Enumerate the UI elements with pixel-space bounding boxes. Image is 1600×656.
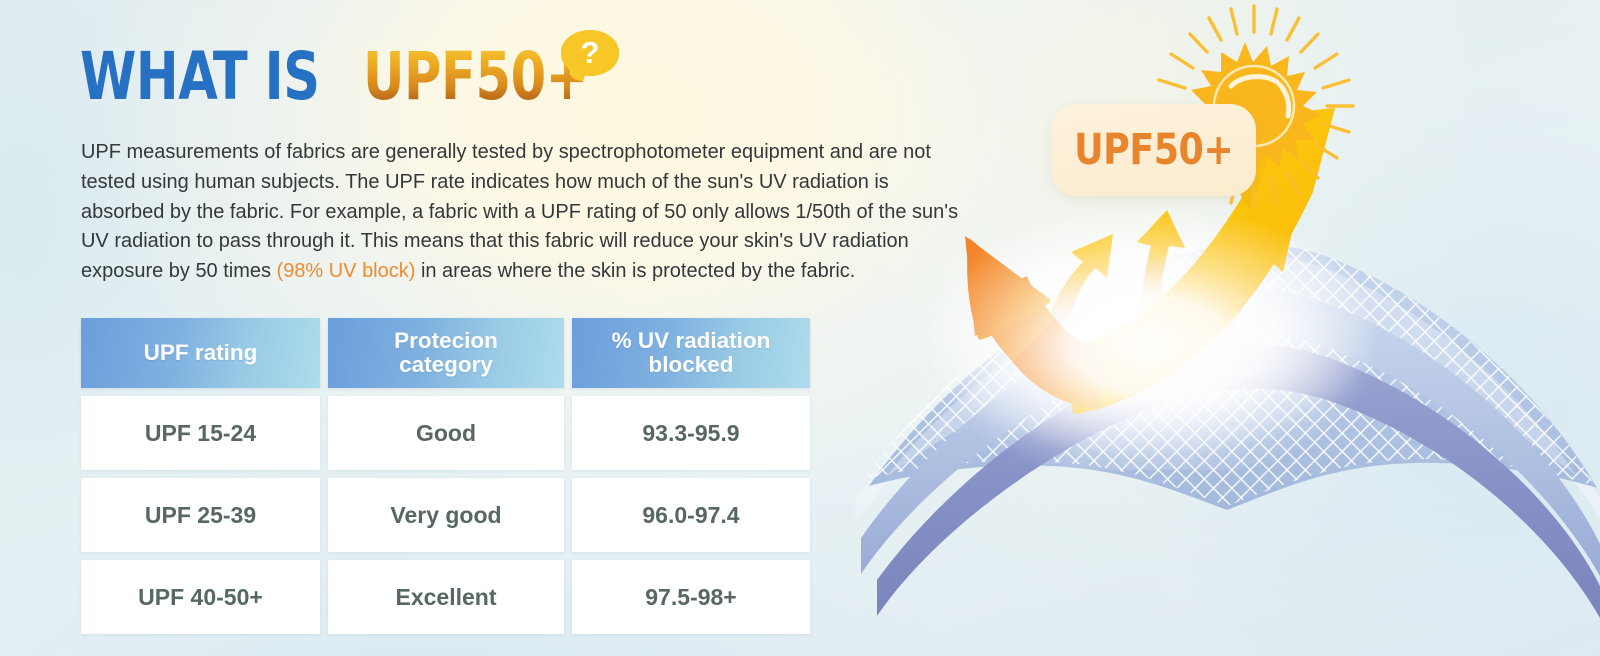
uv-protection-illustration: UPF50+ bbox=[855, 0, 1600, 656]
upf50-infographic-banner: WHAT IS UPF50+ ? UPF measurements of fab… bbox=[0, 0, 1600, 656]
cell-protection-category: Excellent bbox=[328, 560, 564, 634]
table-header-upf-rating: UPF rating bbox=[81, 318, 320, 388]
page-title-blue: WHAT IS bbox=[80, 40, 320, 114]
cell-upf-rating: UPF 40-50+ bbox=[81, 560, 320, 634]
cell-upf-rating: UPF 15-24 bbox=[81, 396, 320, 470]
cell-protection-category: Very good bbox=[328, 478, 564, 552]
header-line: % UV radiation bbox=[612, 329, 771, 353]
header-line: blocked bbox=[612, 353, 771, 377]
table-row: UPF 40-50+ Excellent 97.5-98+ bbox=[81, 560, 818, 634]
question-bubble-icon: ? bbox=[561, 30, 619, 80]
cell-uv-blocked: 97.5-98+ bbox=[572, 560, 810, 634]
table-header-row: UPF rating Protecioncategory % UV radiat… bbox=[81, 318, 818, 388]
table-row: UPF 15-24 Good 93.3-95.9 bbox=[81, 396, 818, 470]
header-line: Protecion bbox=[394, 329, 498, 353]
header-line: UPF rating bbox=[144, 341, 258, 365]
table-header-protection-category: Protecioncategory bbox=[328, 318, 564, 388]
page-title-orange: UPF50+ bbox=[363, 40, 588, 114]
cell-upf-rating: UPF 25-39 bbox=[81, 478, 320, 552]
description-part2: in areas where the skin is protected by … bbox=[415, 259, 855, 282]
page-title: WHAT IS UPF50+ bbox=[80, 40, 624, 114]
description-highlight: (98% UV block) bbox=[277, 259, 416, 282]
table-row: UPF 25-39 Very good 96.0-97.4 bbox=[81, 478, 818, 552]
description-paragraph: UPF measurements of fabrics are generall… bbox=[81, 137, 963, 286]
table-header-uv-blocked: % UV radiationblocked bbox=[572, 318, 810, 388]
question-mark-glyph: ? bbox=[561, 30, 619, 76]
cell-uv-blocked: 93.3-95.9 bbox=[572, 396, 810, 470]
cell-uv-blocked: 96.0-97.4 bbox=[572, 478, 810, 552]
upf50-badge: UPF50+ bbox=[1051, 104, 1256, 196]
cell-protection-category: Good bbox=[328, 396, 564, 470]
upf50-badge-label: UPF50+ bbox=[1074, 125, 1233, 175]
illustration-canvas bbox=[855, 0, 1600, 656]
upf-rating-table: UPF rating Protecioncategory % UV radiat… bbox=[81, 318, 818, 634]
header-line: category bbox=[394, 353, 498, 377]
